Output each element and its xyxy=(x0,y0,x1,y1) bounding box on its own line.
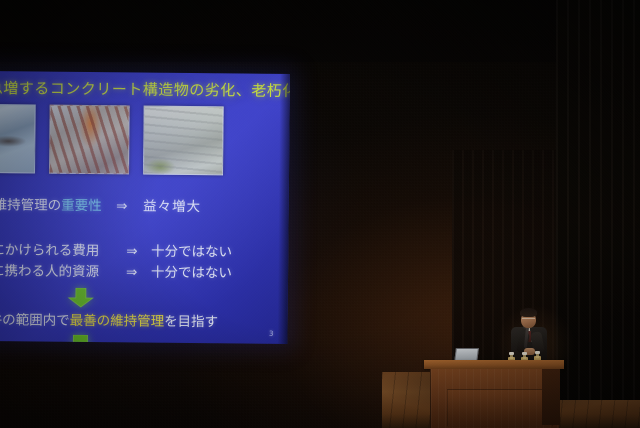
line4-keyword: 最善の維持管理 xyxy=(70,313,165,330)
slide-photo-3 xyxy=(143,106,224,176)
lectern-inset-panel xyxy=(447,389,553,427)
line1-seg3: ⇒ 益々増大 xyxy=(102,198,201,215)
line1-keyword: 重要性 xyxy=(61,198,102,214)
auditorium-presentation-photo: 急増するコンクリート構造物の劣化、老朽化 物の維持管理の重要性 ⇒ 益々増大 管… xyxy=(0,0,640,428)
line4-seg1: た条件の範囲内で xyxy=(0,312,70,329)
slide-body-line-2: 管理にかけられる費用 ⇒ 十分ではない xyxy=(0,238,232,261)
slide-photo-2 xyxy=(49,105,130,175)
lectern-front-panel xyxy=(430,369,559,428)
speaker-glasses-icon xyxy=(522,318,535,322)
slide-body-line-3: 管理に携わる人的資源 ⇒ 十分ではない xyxy=(0,259,232,282)
slide-body-text: 物の維持管理の重要性 ⇒ 益々増大 管理にかけられる費用 ⇒ 十分ではない 管理… xyxy=(0,193,289,196)
lectern-side-panel xyxy=(542,369,560,425)
bottle-cap xyxy=(535,351,540,354)
slide-body-line-1: 物の維持管理の重要性 ⇒ 益々増大 xyxy=(0,193,201,215)
green-down-arrow-icon xyxy=(68,288,94,308)
slide-body-line-4: た条件の範囲内で最善の維持管理を目指す xyxy=(0,308,218,330)
projection-screen: 急増するコンクリート構造物の劣化、老朽化 物の維持管理の重要性 ⇒ 益々増大 管… xyxy=(0,71,290,344)
slide-photo-strip xyxy=(0,104,224,176)
speaker-hair xyxy=(520,308,537,317)
lectern-top-surface xyxy=(424,360,564,369)
stage-curtain-right xyxy=(556,0,640,400)
line4-seg3: を目指す xyxy=(164,314,218,331)
line1-seg1: 物の維持管理の xyxy=(0,197,61,214)
slide-photo-1 xyxy=(0,104,36,174)
bottle-cap xyxy=(522,352,527,355)
slide-page-number: 3 xyxy=(269,330,274,338)
bottle-cap xyxy=(509,352,514,355)
lectern-podium xyxy=(424,360,564,428)
ceiling-area xyxy=(0,0,640,62)
slide-title: 急増するコンクリート構造物の劣化、老朽化 xyxy=(0,77,288,101)
